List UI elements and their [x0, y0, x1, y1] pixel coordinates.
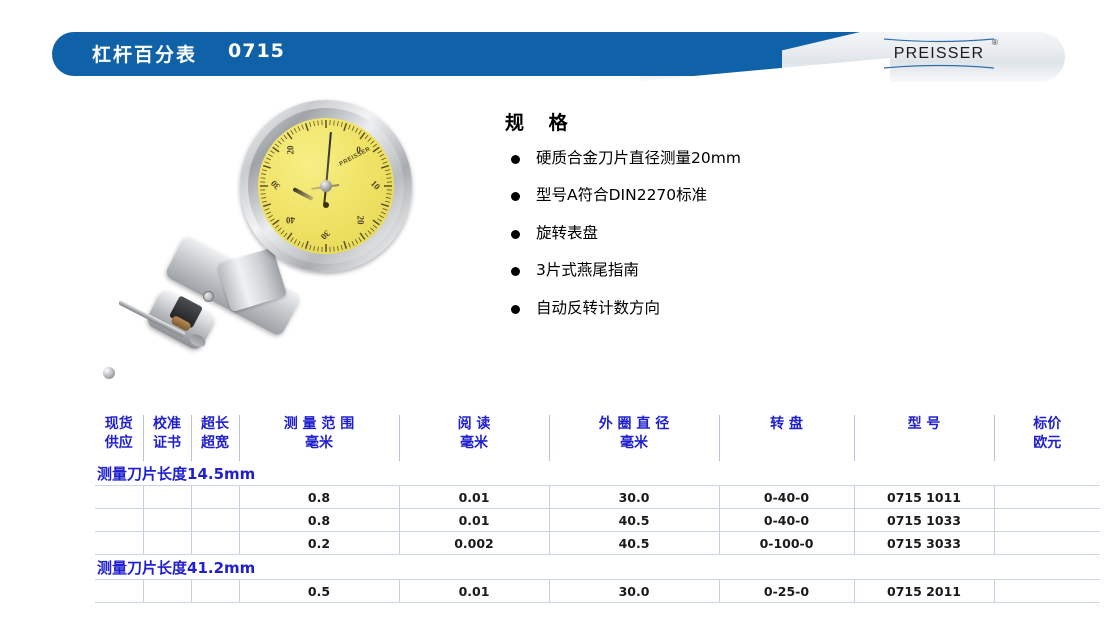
cell-price — [994, 532, 1100, 555]
cell-reading: 0.01 — [399, 486, 549, 509]
specifications-section: 规 格 硬质合金刀片直径测量20mm 型号A符合DIN2270标准 旋转表盘 3… — [505, 108, 1025, 336]
group-header-row: 测量刀片长度14.5mm — [95, 461, 1100, 486]
table-header-row: 现货 供应 校准 证书 超长 超宽 测 量 范 围 毫米 阅 读 毫米 — [95, 415, 1100, 461]
spec-list-item: 3片式燕尾指南 — [505, 261, 1025, 280]
table-row[interactable]: 0.8 0.01 30.0 0-40-0 0715 1011 — [95, 486, 1100, 509]
cell-model: 0715 3033 — [854, 532, 994, 555]
cell-price — [994, 486, 1100, 509]
table-head: 现货 供应 校准 证书 超长 超宽 测 量 范 围 毫米 阅 读 毫米 — [95, 415, 1100, 461]
cell-model: 0715 1033 — [854, 509, 994, 532]
dial-hub — [320, 180, 332, 192]
cell-dial-range: 0-40-0 — [719, 509, 854, 532]
cell-stock — [95, 509, 143, 532]
bullet-icon — [511, 230, 520, 239]
bullet-icon — [511, 267, 520, 276]
cell-dial-range: 0-100-0 — [719, 532, 854, 555]
dial-bezel: PREISSER 0102030403020 — [240, 100, 412, 272]
cell-certificate — [143, 486, 191, 509]
spec-list-item: 旋转表盘 — [505, 224, 1025, 243]
col-header-dial-range: 转 盘 — [719, 415, 854, 461]
cell-oversize — [191, 486, 239, 509]
dial-scale-number: 0 — [356, 145, 361, 155]
logo-arc-top-icon — [884, 38, 994, 44]
col-header-stock: 现货 供应 — [95, 415, 143, 461]
group-header-row: 测量刀片长度41.2mm — [95, 555, 1100, 580]
dial-bezel-inner: PREISSER 0102030403020 — [248, 108, 404, 264]
brand-logo: PREISSER ® — [880, 36, 1010, 72]
product-code: 0715 — [228, 40, 285, 62]
cell-reading: 0.01 — [399, 509, 549, 532]
dial-scale-number: 20 — [285, 145, 295, 154]
cell-oversize — [191, 580, 239, 603]
cell-measuring-range: 0.8 — [239, 486, 399, 509]
col-header-price: 标价 欧元 — [994, 415, 1100, 461]
cell-dial-range: 0-25-0 — [719, 580, 854, 603]
group-label: 测量刀片长度14.5mm — [95, 461, 1100, 486]
table-row[interactable]: 0.8 0.01 40.5 0-40-0 0715 1033 — [95, 509, 1100, 532]
dial-scale-number: 20 — [356, 216, 366, 225]
cell-price — [994, 580, 1100, 603]
cell-price — [994, 509, 1100, 532]
spec-item-text: 型号A符合DIN2270标准 — [536, 186, 707, 205]
dial-hub-dot — [323, 202, 329, 208]
bullet-icon — [511, 192, 520, 201]
col-header-model: 型 号 — [854, 415, 994, 461]
table-row[interactable]: 0.2 0.002 40.5 0-100-0 0715 3033 — [95, 532, 1100, 555]
col-header-certificate: 校准 证书 — [143, 415, 191, 461]
col-header-outer-diameter: 外 圈 直 径 毫米 — [549, 415, 719, 461]
cell-outer-diameter: 40.5 — [549, 532, 719, 555]
spec-list-item: 型号A符合DIN2270标准 — [505, 186, 1025, 205]
cell-model: 0715 2011 — [854, 580, 994, 603]
spec-list-item: 硬质合金刀片直径测量20mm — [505, 149, 1025, 168]
table-row[interactable]: 0.5 0.01 30.0 0-25-0 0715 2011 — [95, 580, 1100, 603]
cell-model: 0715 1011 — [854, 486, 994, 509]
cell-certificate — [143, 580, 191, 603]
cell-certificate — [143, 532, 191, 555]
dial-face: PREISSER 0102030403020 — [258, 118, 394, 254]
indicator-screw — [203, 291, 214, 302]
table-body: 测量刀片长度14.5mm 0.8 0.01 30.0 0-40-0 0715 1… — [95, 461, 1100, 603]
cell-oversize — [191, 532, 239, 555]
bullet-icon — [511, 305, 520, 314]
col-header-reading: 阅 读 毫米 — [399, 415, 549, 461]
cell-measuring-range: 0.5 — [239, 580, 399, 603]
spec-item-text: 旋转表盘 — [536, 224, 598, 243]
cell-outer-diameter: 30.0 — [549, 580, 719, 603]
cell-reading: 0.01 — [399, 580, 549, 603]
indicator-contact-ball — [103, 367, 115, 379]
cell-outer-diameter: 30.0 — [549, 486, 719, 509]
cell-certificate — [143, 509, 191, 532]
dial-scale-number: 40 — [286, 215, 295, 225]
cell-reading: 0.002 — [399, 532, 549, 555]
spec-list-item: 自动反转计数方向 — [505, 299, 1025, 318]
brand-name: PREISSER — [880, 45, 998, 63]
product-variants-table: 现货 供应 校准 证书 超长 超宽 测 量 范 围 毫米 阅 读 毫米 — [95, 415, 1100, 603]
spec-item-text: 自动反转计数方向 — [536, 299, 660, 318]
registered-mark: ® — [992, 38, 998, 47]
group-label: 测量刀片长度41.2mm — [95, 555, 1100, 580]
bullet-icon — [511, 155, 520, 164]
logo-arc-bottom-icon — [884, 63, 994, 69]
cell-dial-range: 0-40-0 — [719, 486, 854, 509]
variants-table: 现货 供应 校准 证书 超长 超宽 测 量 范 围 毫米 阅 读 毫米 — [95, 415, 1100, 603]
page-title: 杠杆百分表 — [92, 40, 197, 67]
spec-heading: 规 格 — [505, 108, 1025, 135]
cell-outer-diameter: 40.5 — [549, 509, 719, 532]
col-header-oversize: 超长 超宽 — [191, 415, 239, 461]
cell-stock — [95, 580, 143, 603]
cell-stock — [95, 532, 143, 555]
spec-item-text: 3片式燕尾指南 — [536, 261, 639, 280]
cell-oversize — [191, 509, 239, 532]
col-header-measuring-range: 测 量 范 围 毫米 — [239, 415, 399, 461]
cell-measuring-range: 0.2 — [239, 532, 399, 555]
spec-item-text: 硬质合金刀片直径测量20mm — [536, 149, 741, 168]
cell-measuring-range: 0.8 — [239, 509, 399, 532]
product-photo-lever-dial-indicator: PREISSER 0102030403020 — [95, 95, 465, 405]
cell-stock — [95, 486, 143, 509]
